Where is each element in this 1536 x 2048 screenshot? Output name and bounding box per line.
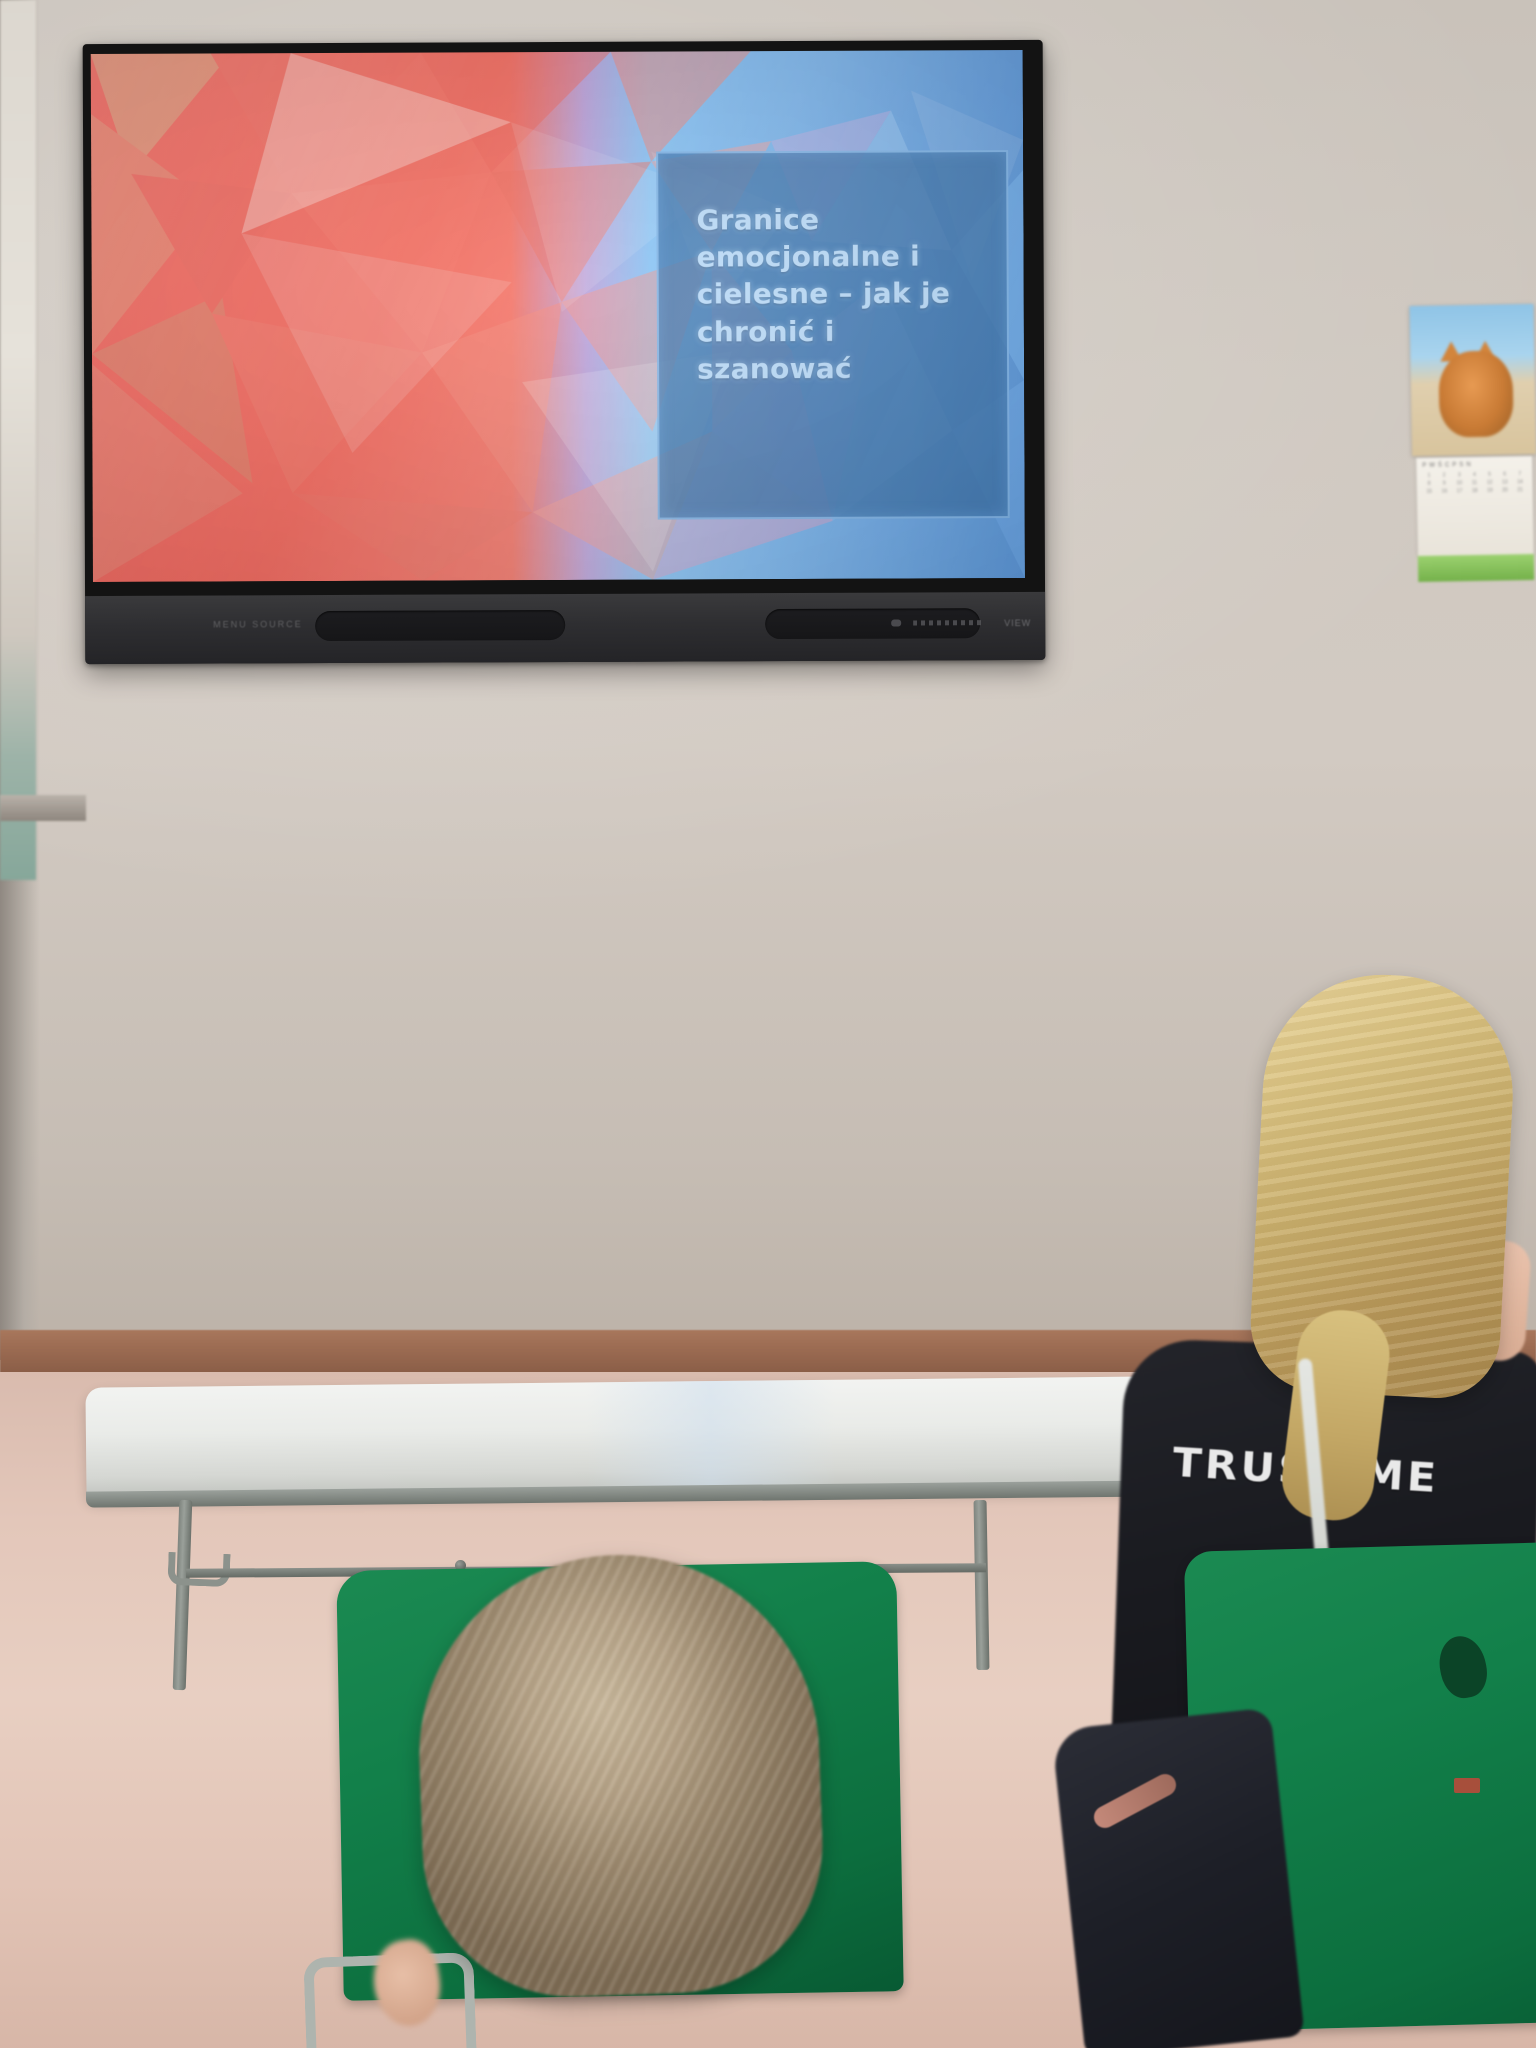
presentation-slide: Graniceemocjonalne icielesne – jak jechr… <box>91 50 1025 582</box>
calendar-block: P W Ś C P S N 1 2 3 4 5 6 7 8 9 10 11 12 <box>1416 456 1534 556</box>
display-screen[interactable]: Graniceemocjonalne icielesne – jak jechr… <box>91 50 1025 582</box>
wall-poster-calendar: P W Ś C P S N 1 2 3 4 5 6 7 8 9 10 11 12 <box>1409 304 1536 596</box>
calendar-day: 18 <box>1468 488 1481 494</box>
left-cabinet-edge <box>0 0 36 880</box>
calendar-day: 1 <box>1422 473 1435 479</box>
calendar-days-grid: 1 2 3 4 5 6 7 8 9 10 11 12 13 14 15 16 1… <box>1416 467 1533 499</box>
calendar-day: 16 <box>1438 488 1451 494</box>
calendar-day: 7 <box>1513 471 1526 477</box>
calendar-weekday: W <box>1429 463 1435 469</box>
calendar-day: 6 <box>1498 471 1511 477</box>
calendar-day: 3 <box>1453 472 1466 478</box>
display-bottom-bezel: MENU SOURCE VIEW <box>85 592 1045 664</box>
calendar-day: 19 <box>1483 488 1496 494</box>
chair-label-tag <box>1454 1778 1480 1793</box>
calendar-day: 12 <box>1483 480 1496 486</box>
ir-sensor-icon <box>891 620 901 627</box>
slide-title: Graniceemocjonalne icielesne – jak jechr… <box>696 200 989 387</box>
cat-head-icon <box>1438 350 1513 437</box>
calendar-weekday: N <box>1466 462 1470 468</box>
poster-green-strip <box>1418 554 1534 582</box>
calendar-day: 4 <box>1468 472 1481 478</box>
calendar-day: 17 <box>1453 488 1466 494</box>
calendar-day: 11 <box>1468 480 1481 486</box>
calendar-day: 20 <box>1498 487 1511 493</box>
bezel-buttons-label[interactable]: MENU SOURCE <box>213 619 303 629</box>
cat-photo <box>1409 304 1536 456</box>
calendar-day: 5 <box>1483 472 1496 478</box>
calendar-weekday: Ś <box>1438 463 1442 469</box>
calendar-day: 14 <box>1513 479 1526 485</box>
desk-reflection <box>585 1380 836 1495</box>
interactive-display[interactable]: Graniceemocjonalne icielesne – jak jechr… <box>83 40 1046 664</box>
calendar-day: 9 <box>1438 480 1451 486</box>
calendar-weekday: C <box>1445 462 1449 468</box>
calendar-day: 15 <box>1423 489 1436 495</box>
calendar-day: 8 <box>1423 481 1436 487</box>
bezel-vent <box>913 620 983 625</box>
calendar-weekday: P <box>1452 462 1456 468</box>
slide-textbox: Graniceemocjonalne icielesne – jak jechr… <box>656 150 1010 520</box>
calendar-weekday: P <box>1422 463 1426 469</box>
calendar-weekday: S <box>1459 462 1463 468</box>
calendar-day: 21 <box>1514 487 1527 493</box>
wall-rail <box>0 795 86 821</box>
jacket-on-chair <box>1051 1707 1304 2048</box>
calendar-day: 10 <box>1453 480 1466 486</box>
display-brand-label: VIEW <box>1004 618 1031 628</box>
calendar-day: 2 <box>1438 472 1451 478</box>
speaker-grille-left <box>315 610 565 641</box>
calendar-day: 13 <box>1498 479 1511 485</box>
classroom-photo: Graniceemocjonalne icielesne – jak jechr… <box>0 0 1536 2048</box>
